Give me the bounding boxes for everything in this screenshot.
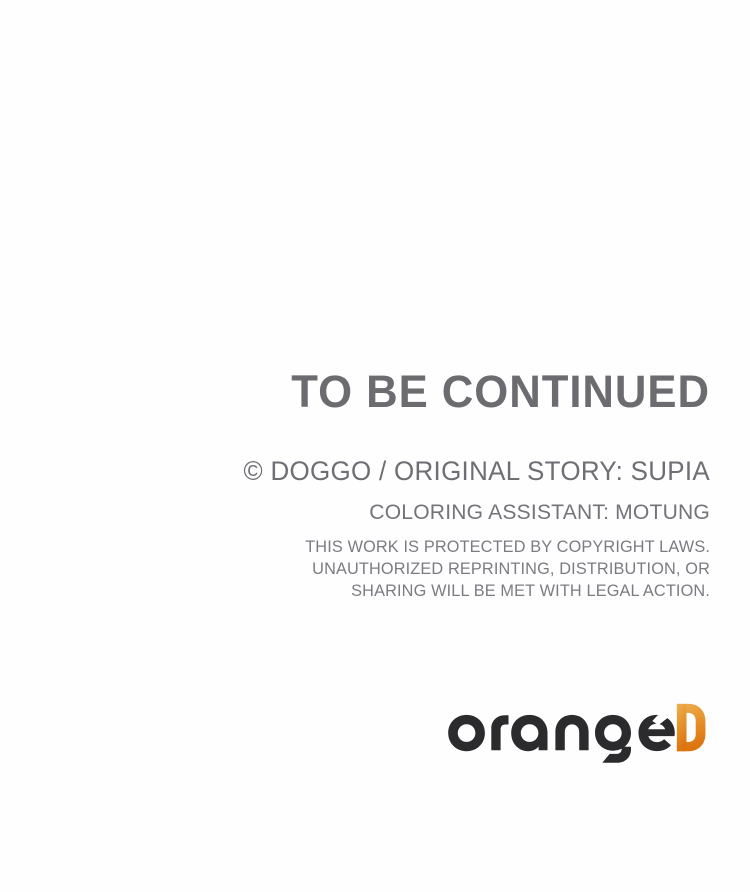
copyright-notice: THIS WORK IS PROTECTED BY COPYRIGHT LAWS… <box>40 537 710 602</box>
coloring-assistant-credit: COLORING ASSISTANT: MOTUNG <box>53 500 710 525</box>
oranged-logo <box>444 697 706 769</box>
logo-accent-letter <box>677 704 706 751</box>
oranged-logo-icon <box>444 697 706 769</box>
logo-wordmark <box>448 715 675 763</box>
credits-block: TO BE CONTINUED © DOGGO / ORIGINAL STORY… <box>40 368 710 602</box>
copyright-notice-line-1: THIS WORK IS PROTECTED BY COPYRIGHT LAWS… <box>40 537 710 559</box>
copyright-notice-line-2: UNAUTHORIZED REPRINTING, DISTRIBUTION, O… <box>40 559 710 581</box>
comic-end-card: TO BE CONTINUED © DOGGO / ORIGINAL STORY… <box>0 0 750 892</box>
copyright-notice-line-3: SHARING WILL BE MET WITH LEGAL ACTION. <box>40 581 710 603</box>
author-credit: © DOGGO / ORIGINAL STORY: SUPIA <box>53 456 710 486</box>
page-title: TO BE CONTINUED <box>60 368 710 415</box>
